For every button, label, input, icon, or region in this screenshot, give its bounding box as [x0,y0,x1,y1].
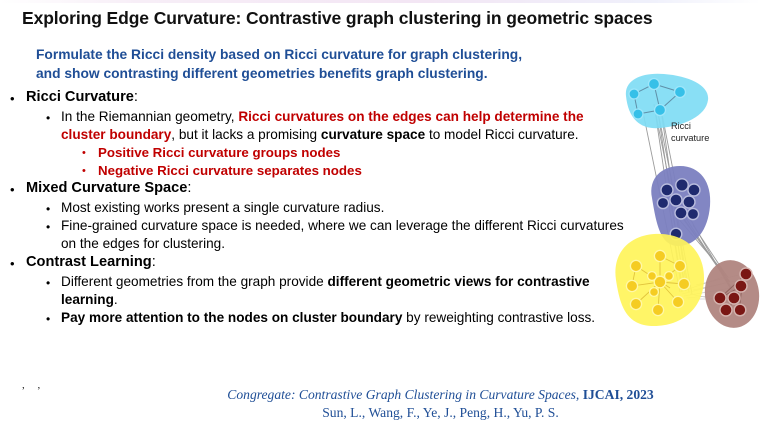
page-title: Exploring Edge Curvature: Contrastive gr… [22,8,742,29]
citation-authors-line: Sun, L., Wang, F., Ye, J., Peng, H., Yu,… [120,404,761,422]
bullet-geometric-views: • Different geometries from the graph pr… [46,273,630,309]
top-decorative-rule [0,0,761,3]
bullet-single-curvature-radius: • Most existing works present a single c… [46,199,630,217]
bullet-fine-grained-curvature-text: Fine-grained curvature space is needed, … [61,217,630,253]
bullet-marker-icon: • [82,162,98,177]
bullet-ricci-curvature-label: Ricci Curvature: [26,88,630,107]
bullet-marker-icon: • [46,199,61,215]
bullet-mixed-curvature-space: • Mixed Curvature Space: [10,179,630,198]
subtitle-line-1: Formulate the Ricci density based on Ric… [36,46,616,65]
yellow-nodes [626,250,689,315]
bullet-marker-icon: • [10,88,26,105]
bullet-list: • Ricci Curvature: • In the Riemannian g… [10,88,630,327]
bullet-riemannian-geometry-text: In the Riemannian geometry, Ricci curvat… [61,108,630,144]
bullet-marker-icon: • [10,179,26,196]
bullet-contrast-learning: • Contrast Learning: [10,253,630,272]
bullet-single-curvature-radius-text: Most existing works present a single cur… [61,199,630,217]
ricci-curvature-annotation: Ricci curvature [671,120,709,145]
bullet-contrast-learning-label: Contrast Learning: [26,253,630,272]
bullet-riemannian-geometry: • In the Riemannian geometry, Ricci curv… [46,108,630,144]
slide-canvas: Exploring Edge Curvature: Contrastive gr… [0,0,761,432]
bullet-negative-ricci: • Negative Ricci curvature separates nod… [82,162,630,180]
bullet-fine-grained-curvature: • Fine-grained curvature space is needed… [46,217,630,253]
stray-quote-marks: , , [22,379,45,391]
slide-subtitle: Formulate the Ricci density based on Ric… [36,46,616,84]
bullet-ricci-curvature: • Ricci Curvature: [10,88,630,107]
ricci-label-line-2: curvature [671,132,709,144]
ricci-label-line-1: Ricci [671,120,709,132]
bullet-cluster-boundary-attention-text: Pay more attention to the nodes on clust… [61,309,630,327]
bullet-marker-icon: • [46,309,61,325]
bullet-geometric-views-text: Different geometries from the graph prov… [61,273,630,309]
bullet-mixed-curvature-space-label: Mixed Curvature Space: [26,179,630,198]
bullet-marker-icon: • [10,253,26,270]
bullet-marker-icon: • [46,217,61,233]
subtitle-line-2: and show contrasting different geometrie… [36,65,616,84]
brown-cluster [701,257,761,332]
bullet-positive-ricci-text: Positive Ricci curvature groups nodes [98,144,630,162]
bullet-marker-icon: • [46,108,61,124]
bullet-cluster-boundary-attention: • Pay more attention to the nodes on clu… [46,309,630,327]
bullet-marker-icon: • [82,144,98,159]
citation-title-line: Congregate: Contrastive Graph Clustering… [120,386,761,404]
yellow-cluster [615,234,704,326]
bullet-marker-icon: • [46,273,61,289]
citation: Congregate: Contrastive Graph Clustering… [120,386,761,422]
bullet-negative-ricci-text: Negative Ricci curvature separates nodes [98,162,630,180]
graph-clustering-figure: Ricci curvature [608,70,761,340]
bullet-positive-ricci: • Positive Ricci curvature groups nodes [82,144,630,162]
